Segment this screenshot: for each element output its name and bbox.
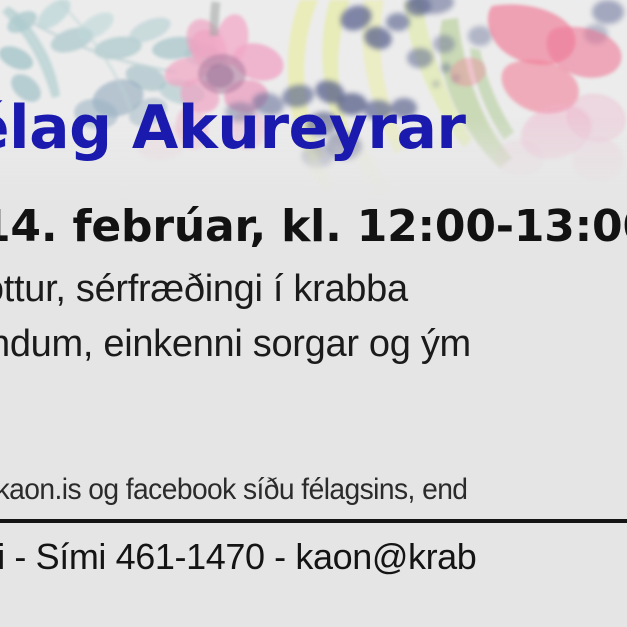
- poster-note-text: ð finna inn á kaon.is og facebook síðu f…: [0, 468, 580, 512]
- poster-body-line-1-text: leifsdóttur, sérfræðingi í krabba: [0, 263, 627, 315]
- poster-note: ð finna inn á kaon.is og facebook síðu f…: [0, 468, 627, 512]
- poster-footer-contact: Akureyri - Sími 461-1470 - kaon@krab: [0, 531, 627, 583]
- poster-body-line-2-text: ikindum, einkenni sorgar og ým: [0, 318, 627, 370]
- poster-date-time-text: 14. febrúar, kl. 12:00-13:00: [0, 196, 627, 258]
- footer-divider-rule: [0, 519, 627, 523]
- poster-footer-contact-text: Akureyri - Sími 461-1470 - kaon@krab: [0, 531, 627, 583]
- poster-date-time: 14. febrúar, kl. 12:00-13:00: [0, 196, 627, 258]
- poster-body-line-2: ikindum, einkenni sorgar og ým: [0, 318, 627, 370]
- poster-title: sfélag Akureyrar: [0, 86, 627, 170]
- poster-body-line-1: leifsdóttur, sérfræðingi í krabba: [0, 263, 627, 315]
- poster-title-text: sfélag Akureyrar: [0, 86, 627, 170]
- poster-canvas: sfélag Akureyrar 14. febrúar, kl. 12:00-…: [0, 0, 627, 627]
